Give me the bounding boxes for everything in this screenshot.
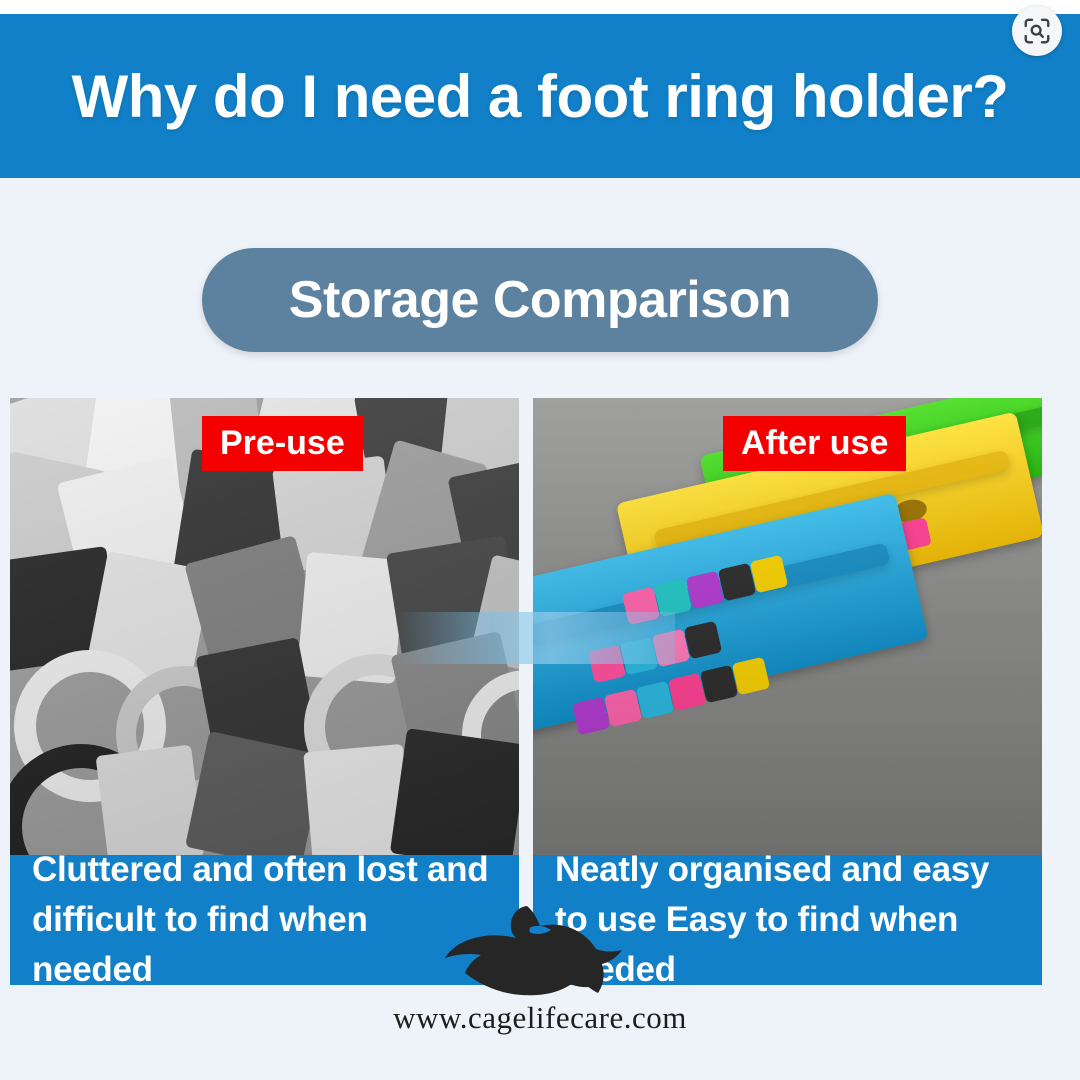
top-white-strip (0, 0, 1080, 14)
lens-search-button[interactable] (1012, 6, 1062, 56)
badge-pre-use: Pre-use (202, 416, 363, 471)
caption-pre-use: Cluttered and often lost and difficult t… (10, 855, 519, 985)
section-pill-wrapper: Storage Comparison (0, 248, 1080, 352)
header-bar: Why do I need a foot ring holder? (0, 14, 1080, 178)
caption-after-use: Neatly organised and easy to use Easy to… (533, 855, 1042, 985)
badge-after-use: After use (723, 416, 906, 471)
panel-pre-use: Pre-use Cluttered and often lost and dif… (10, 398, 519, 985)
page-title: Why do I need a foot ring holder? (72, 62, 1009, 131)
watermark-url: www.cagelifecare.com (0, 1000, 1080, 1036)
promo-page: Why do I need a foot ring holder? Storag… (0, 0, 1080, 1080)
lens-search-icon (1022, 16, 1052, 46)
storage-comparison-pill: Storage Comparison (202, 248, 878, 352)
comparison-panels: Pre-use Cluttered and often lost and dif… (10, 398, 1043, 985)
caption-pre-use-text: Cluttered and often lost and difficult t… (32, 845, 497, 985)
section-pill-label: Storage Comparison (289, 271, 791, 329)
panel-after-use: After use Neatly organised and easy to u… (533, 398, 1042, 985)
caption-after-use-text: Neatly organised and easy to use Easy to… (555, 845, 1020, 985)
